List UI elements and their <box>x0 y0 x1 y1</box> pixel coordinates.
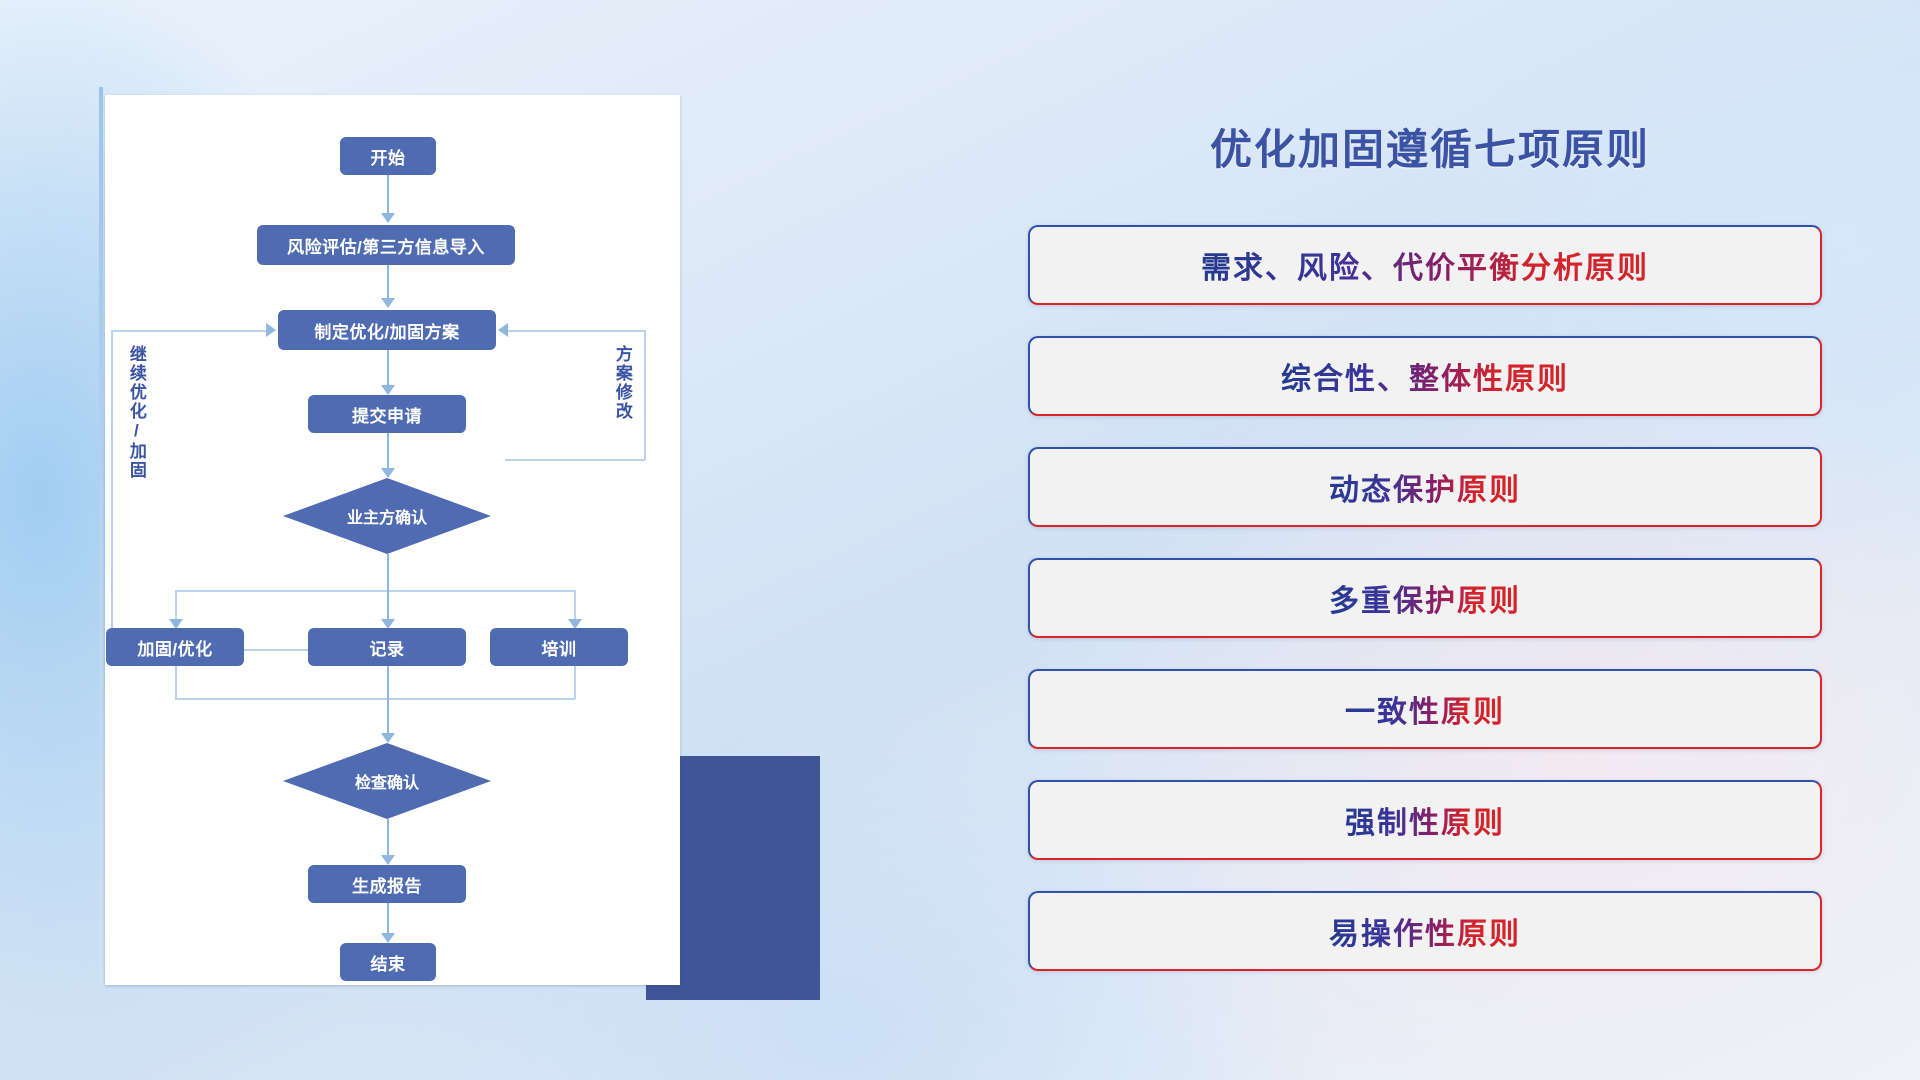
merge-left-rise <box>175 666 177 699</box>
principle-card-4[interactable]: 多重保护原则 <box>1028 558 1822 638</box>
edge-label-continue-optimize: 继续优化/加固 <box>127 345 145 480</box>
connector-risk-plan <box>387 265 389 300</box>
principle-card-1[interactable]: 需求、风险、代价平衡分析原则 <box>1028 225 1822 305</box>
arrowhead-right-plan-left <box>266 323 276 337</box>
loop-right-bottom <box>505 459 645 461</box>
arrowhead-left-plan-right <box>498 323 508 337</box>
principle-card-6[interactable]: 强制性原则 <box>1028 780 1822 860</box>
principle-card-2-label: 综合性、整体性原则 <box>1281 354 1569 398</box>
flow-node-record[interactable]: 记录 <box>308 628 466 666</box>
principles-panel: 优化加固遵循七项原则 需求、风险、代价平衡分析原则 综合性、整体性原则 动态保护… <box>1020 100 1840 1020</box>
edge-label-plan-revision: 方案修改 <box>613 345 631 421</box>
connector-owner-fanout <box>387 554 389 591</box>
flow-node-report[interactable]: 生成报告 <box>308 865 466 903</box>
flowchart-panel: 开始 风险评估/第三方信息导入 制定优化/加固方案 继续优化/加固 方案修改 提… <box>105 95 680 985</box>
fanout-left-drop <box>175 590 177 622</box>
arrowhead-down-owner <box>381 468 395 478</box>
connector-merge-check <box>387 666 389 736</box>
arrowhead-down-end <box>381 933 395 943</box>
flow-node-risk-assessment[interactable]: 风险评估/第三方信息导入 <box>257 225 515 265</box>
loop-left-vertical <box>111 330 113 650</box>
connector-report-end <box>387 903 389 936</box>
arrowhead-down-report <box>381 855 395 865</box>
principle-card-7[interactable]: 易操作性原则 <box>1028 891 1822 971</box>
fanout-right-drop <box>574 590 576 622</box>
merge-bus <box>175 698 575 700</box>
principle-card-1-label: 需求、风险、代价平衡分析原则 <box>1201 243 1649 287</box>
connector-plan-submit <box>387 350 389 388</box>
fanout-mid-drop <box>387 590 389 622</box>
loop-right-vertical <box>644 330 646 460</box>
principle-card-2[interactable]: 综合性、整体性原则 <box>1028 336 1822 416</box>
principle-card-5-label: 一致性原则 <box>1345 687 1505 731</box>
principle-card-5[interactable]: 一致性原则 <box>1028 669 1822 749</box>
merge-right-rise <box>574 666 576 699</box>
flow-decision-check-confirm[interactable]: 检查确认 <box>283 743 491 819</box>
connector-check-report <box>387 819 389 857</box>
flow-decision-owner-confirm[interactable]: 业主方确认 <box>283 478 491 554</box>
flow-node-plan[interactable]: 制定优化/加固方案 <box>278 310 496 350</box>
principle-card-6-label: 强制性原则 <box>1345 798 1505 842</box>
loop-left-top <box>111 330 266 332</box>
connector-start-risk <box>387 175 389 215</box>
flow-node-end[interactable]: 结束 <box>340 943 436 981</box>
flow-node-reinforce[interactable]: 加固/优化 <box>106 628 244 666</box>
flow-node-submit[interactable]: 提交申请 <box>308 395 466 433</box>
loop-right-top <box>508 330 645 332</box>
arrowhead-down-check <box>381 733 395 743</box>
arrowhead-down-plan <box>381 298 395 308</box>
fanout-bus <box>175 590 575 592</box>
arrowhead-down-risk <box>381 213 395 223</box>
principle-card-7-label: 易操作性原则 <box>1329 909 1521 953</box>
flow-node-training[interactable]: 培训 <box>490 628 628 666</box>
flow-node-start[interactable]: 开始 <box>340 137 436 175</box>
connector-submit-owner <box>387 433 389 471</box>
principle-card-3-label: 动态保护原则 <box>1329 465 1521 509</box>
principle-card-3[interactable]: 动态保护原则 <box>1028 447 1822 527</box>
arrowhead-down-submit <box>381 385 395 395</box>
principle-card-4-label: 多重保护原则 <box>1329 576 1521 620</box>
page-title: 优化加固遵循七项原则 <box>1020 116 1840 177</box>
